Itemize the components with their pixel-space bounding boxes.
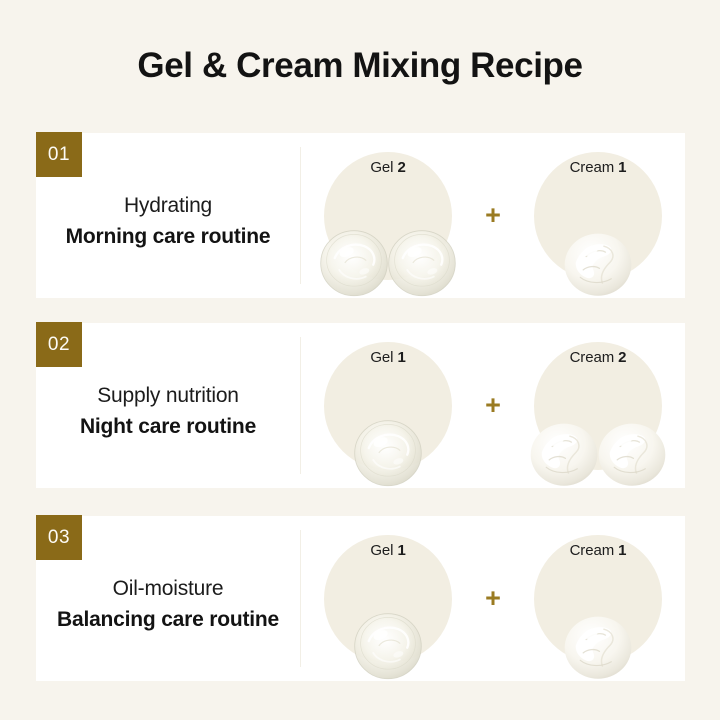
gel-dollop — [385, 224, 459, 298]
cream-group: Cream 1 — [522, 523, 674, 675]
product-mix: Gel 2 + Cream 1 — [301, 133, 685, 298]
routine-text: Hydrating Morning care routine — [36, 133, 300, 298]
plus-icon: + — [464, 202, 522, 229]
gel-group: Gel 1 — [312, 523, 464, 675]
routine-line-2: Balancing care routine — [57, 604, 279, 635]
cream-label: Cream 2 — [522, 349, 674, 366]
plus-icon: + — [464, 585, 522, 612]
gel-label: Gel 1 — [312, 542, 464, 559]
routine-line-1: Supply nutrition — [97, 381, 239, 411]
routine-line-2: Morning care routine — [66, 221, 271, 252]
cream-group: Cream 1 — [522, 140, 674, 292]
gel-dollop — [351, 607, 425, 681]
cream-dollop — [561, 607, 635, 681]
cream-group: Cream 2 — [522, 330, 674, 482]
routine-line-1: Hydrating — [124, 191, 212, 221]
recipe-row: 02 Supply nutrition Night care routine G… — [36, 323, 685, 488]
routine-text: Oil-moisture Balancing care routine — [36, 516, 300, 681]
routine-line-2: Night care routine — [80, 411, 256, 442]
cream-dollop — [595, 414, 669, 488]
cream-blobs — [530, 414, 666, 488]
cream-dollop — [561, 224, 635, 298]
gel-label: Gel 2 — [312, 159, 464, 176]
recipe-row: 03 Oil-moisture Balancing care routine G… — [36, 516, 685, 681]
gel-blobs — [354, 607, 422, 681]
product-mix: Gel 1 + Cream 2 — [301, 323, 685, 488]
cream-label: Cream 1 — [522, 159, 674, 176]
gel-blobs — [354, 414, 422, 488]
cream-blobs — [564, 607, 632, 681]
gel-group: Gel 2 — [312, 140, 464, 292]
routine-line-1: Oil-moisture — [113, 574, 224, 604]
gel-dollop — [351, 414, 425, 488]
product-mix: Gel 1 + Cream 1 — [301, 516, 685, 681]
recipe-row: 01 Hydrating Morning care routine Gel 2 … — [36, 133, 685, 298]
cream-dollop — [527, 414, 601, 488]
page-title: Gel & Cream Mixing Recipe — [0, 46, 720, 86]
gel-group: Gel 1 — [312, 330, 464, 482]
cream-blobs — [564, 224, 632, 298]
gel-blobs — [320, 224, 456, 298]
plus-icon: + — [464, 392, 522, 419]
routine-text: Supply nutrition Night care routine — [36, 323, 300, 488]
gel-dollop — [317, 224, 391, 298]
cream-label: Cream 1 — [522, 542, 674, 559]
gel-label: Gel 1 — [312, 349, 464, 366]
